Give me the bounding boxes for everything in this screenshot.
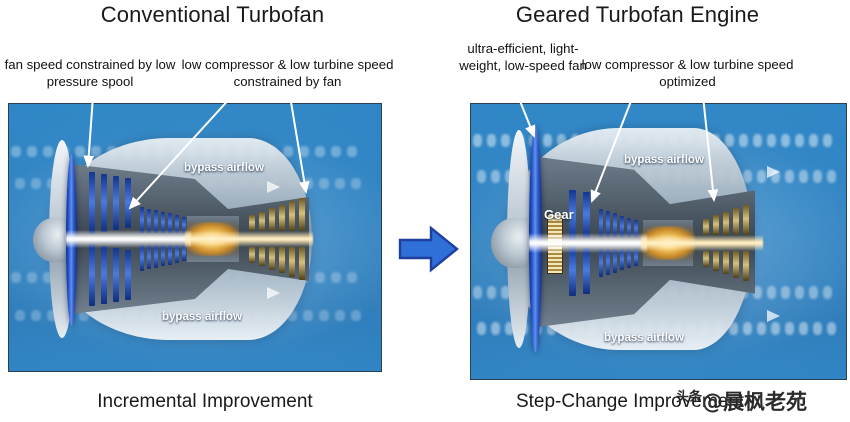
turbine-blade	[279, 247, 285, 273]
fan-shaft-glow	[66, 230, 191, 248]
page-title-right: Geared Turbofan Engine	[425, 2, 850, 28]
turbine-blade	[299, 198, 305, 231]
label-bypass-airflow-top-left: bypass airflow	[184, 162, 264, 174]
turbine-blade	[743, 251, 749, 281]
nose-spinner	[33, 218, 67, 262]
bypass-arrow-top	[767, 166, 780, 178]
turbine-blade	[299, 247, 305, 280]
label-bypass-airflow-bottom-left: bypass airflow	[162, 311, 242, 323]
turbine-blade	[713, 215, 719, 235]
bypass-arrow-bottom	[267, 287, 280, 299]
infographic-root: Conventional Turbofan Geared Turbofan En…	[0, 0, 850, 422]
watermark-name: 晨枫老苑	[723, 390, 807, 414]
turbine-blade	[733, 251, 739, 278]
hp-compressor-blade	[161, 245, 165, 266]
core-shaft-glow	[185, 231, 313, 247]
turbine-blade	[289, 201, 295, 231]
bypass-arrow-bottom	[767, 310, 780, 322]
lp-compressor-blade	[583, 192, 590, 238]
turbine-blade	[259, 247, 265, 266]
lp-compressor-blade	[113, 248, 119, 302]
hp-compressor-blade	[147, 245, 151, 269]
lp-compressor-blade	[125, 178, 131, 228]
turbine-blade	[269, 247, 275, 270]
turbine-blade	[249, 247, 255, 263]
annotation-left-compressor: low compressor & low turbine speed const…	[180, 56, 395, 90]
turbine-blade	[279, 205, 285, 231]
lp-compressor-blade	[101, 174, 107, 232]
caption-incremental-improvement: Incremental Improvement	[0, 391, 410, 413]
watermark: 头条@晨枫老苑	[676, 386, 807, 416]
label-bypass-airflow-bottom-right: bypass airflow	[604, 332, 684, 344]
hp-compressor-blade	[599, 249, 603, 277]
lp-compressor-blade	[89, 172, 95, 234]
turbine-blade	[269, 208, 275, 231]
lp-compressor-blade	[101, 246, 107, 304]
transition-arrow-icon	[398, 224, 460, 274]
watermark-prefix: 头条	[676, 390, 702, 405]
turbine-blade	[703, 251, 709, 267]
lp-compressor-blade	[583, 248, 590, 294]
turbine-blade	[259, 212, 265, 231]
turbine-blade	[289, 247, 295, 277]
lp-compressor-blade	[89, 244, 95, 306]
hp-compressor-blade	[154, 245, 158, 268]
turbine-blade	[703, 219, 709, 235]
turbine-blade	[713, 251, 719, 271]
nose-spinner	[491, 218, 529, 268]
diagram-panel-geared-turbofan: Gear bypass airflow bypass airflow	[470, 103, 847, 380]
page-title-left: Conventional Turbofan	[0, 2, 425, 28]
bypass-arrow-top	[267, 181, 280, 193]
hp-compressor-blade	[140, 245, 144, 271]
annotation-right-compressor: low compressor & low turbine speed optim…	[580, 56, 795, 90]
lp-compressor-blade	[125, 250, 131, 300]
lp-compressor-blade	[569, 246, 576, 296]
fan-shaft-glow	[529, 233, 647, 253]
turbine-blade	[743, 205, 749, 235]
lp-compressor-blade	[113, 176, 119, 230]
turbine-blade	[733, 208, 739, 235]
turbine-blade	[249, 215, 255, 231]
turbine-blade	[723, 212, 729, 235]
diagram-panel-conventional-turbofan: bypass airflow bypass airflow	[8, 103, 382, 372]
label-bypass-airflow-top-right: bypass airflow	[624, 154, 704, 166]
turbine-blade	[723, 251, 729, 274]
watermark-at: @	[702, 390, 723, 414]
label-gear: Gear	[544, 207, 574, 222]
core-shaft-glow	[641, 235, 763, 251]
annotation-left-fan: fan speed constrained by low pressure sp…	[0, 56, 182, 90]
annotation-right-fan: ultra-efficient, light-weight, low-speed…	[458, 40, 588, 74]
engine-cutaway-conventional	[9, 104, 381, 371]
